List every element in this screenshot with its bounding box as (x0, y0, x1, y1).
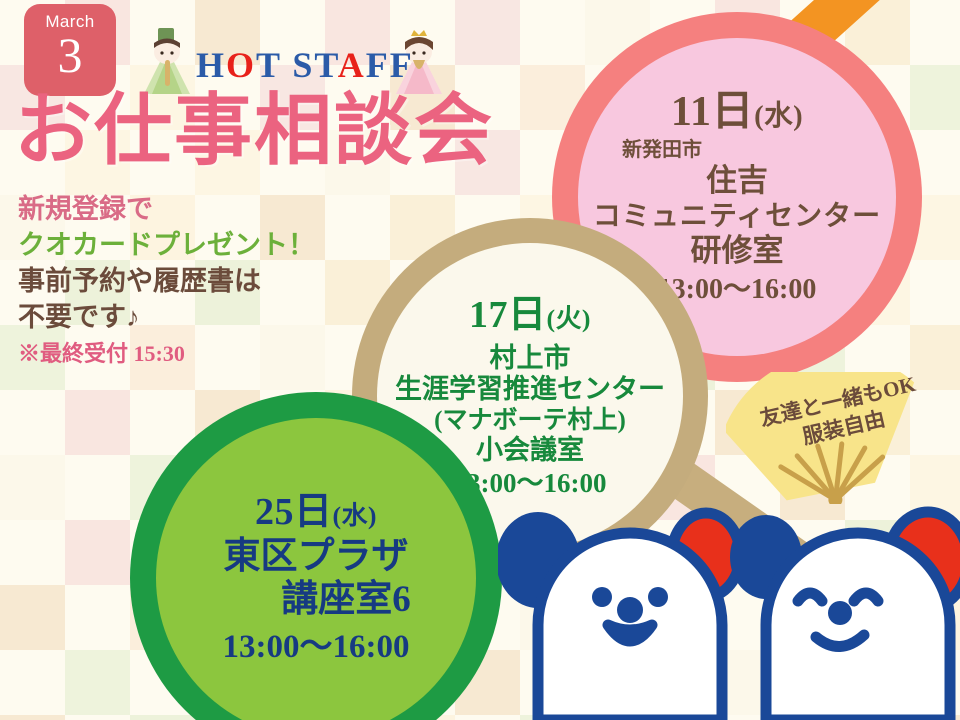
promo-copy-block: 新規登録で クオカードプレゼント！ 事前予約や履歴書は 不要です♪ ※最終受付 … (18, 192, 315, 368)
event-25-venue-line2: 講座室6 (281, 579, 411, 622)
background-tile (0, 390, 65, 455)
event-25-weekday: (水) (332, 501, 377, 530)
background-tile (0, 650, 65, 715)
hot-staff-logo: HOT STAFF (196, 44, 414, 86)
event-25-time: 13:00〜16:00 (223, 628, 410, 666)
event-17-venue-line2: (マナボーテ村上) (434, 406, 626, 435)
date-badge: March 3 (24, 4, 116, 96)
event-25-day-number: 25日 (255, 491, 333, 533)
hina-emperor-doll-icon (138, 28, 196, 96)
bear-mascots (498, 505, 960, 720)
event-11-time: 13:00〜16:00 (658, 273, 817, 306)
copy-line-5-note: ※最終受付 15:30 (18, 339, 315, 368)
event-lens-25-inner: 25日(水) 東区プラザ 講座室6 13:00〜16:00 (156, 418, 476, 720)
logo-tst: T ST (256, 45, 338, 85)
event-11-venue-line2: コミュニティセンター (593, 200, 881, 233)
copy-line-2: クオカードプレゼント！ (18, 228, 315, 264)
logo-h: H (196, 45, 226, 85)
poster-canvas: 11日(水) 新発田市 住吉 コミュニティセンター 研修室 13:00〜16:0… (0, 0, 960, 720)
background-tile (65, 455, 130, 520)
background-tile (455, 0, 520, 65)
event-11-venue-line1: 住吉 (706, 163, 768, 200)
copy-line-4: 不要です♪ (18, 300, 315, 336)
event-11-weekday: (水) (754, 101, 803, 132)
date-badge-day: 3 (24, 32, 116, 78)
page-title: お仕事相談会 (14, 92, 494, 170)
logo-o: O (226, 45, 256, 85)
logo-ff: FF (366, 45, 414, 85)
background-tile (0, 715, 65, 720)
event-17-venue-line3: 小会議室 (476, 435, 584, 466)
background-tile (520, 0, 585, 65)
background-tile (0, 455, 65, 520)
event-17-day-number: 17日 (469, 294, 547, 336)
bear-mascot-right-icon (730, 512, 960, 720)
event-11-city: 新発田市 (622, 139, 702, 163)
event-25-venue-line1: 東区プラザ (224, 536, 409, 579)
background-tile (910, 0, 960, 65)
background-tile (65, 715, 130, 720)
bear-mascots-icon (498, 505, 960, 720)
background-tile (65, 520, 130, 585)
event-11-venue-line3: 研修室 (691, 233, 784, 270)
event-25-day: 25日(水) (255, 490, 377, 534)
event-17-city: 村上市 (490, 343, 571, 374)
logo-a: A (338, 45, 366, 85)
event-17-day: 17日(火) (469, 293, 591, 337)
event-17-weekday: (火) (546, 304, 591, 333)
fan-badge: 友達と一緒もOK 服装自由 (726, 372, 942, 504)
background-tile (0, 520, 65, 585)
background-tile (910, 260, 960, 325)
copy-line-3: 事前予約や履歴書は (18, 264, 315, 300)
background-tile (65, 585, 130, 650)
background-tile (130, 715, 195, 720)
event-17-venue-line1: 生涯学習推進センター (395, 374, 665, 405)
background-tile (910, 65, 960, 130)
bear-mascot-left-icon (498, 512, 740, 720)
background-tile (65, 650, 130, 715)
copy-line-1: 新規登録で (18, 192, 315, 228)
event-11-day-number: 11日 (671, 89, 754, 135)
background-tile (325, 195, 390, 260)
background-tile (0, 585, 65, 650)
event-11-day: 11日(水) (671, 88, 803, 138)
background-tile (65, 390, 130, 455)
